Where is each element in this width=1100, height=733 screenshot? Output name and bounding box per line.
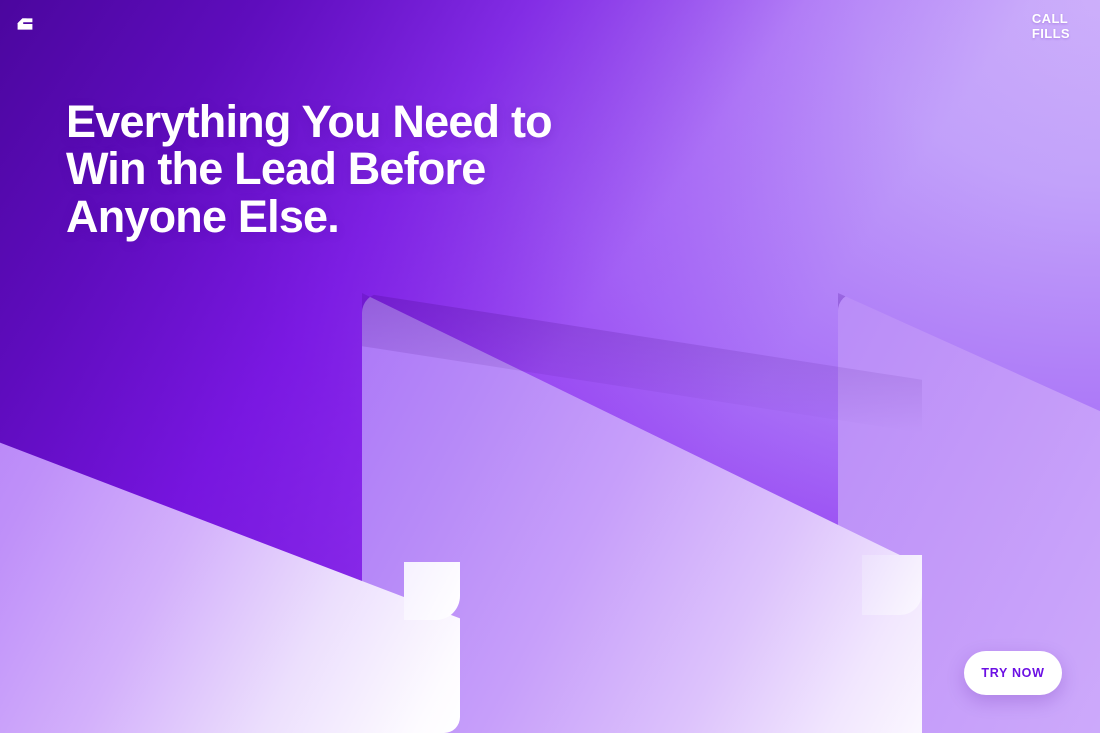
headline-period: . (327, 191, 340, 242)
hero-canvas: CALL FILLS Everything You Need to Win th… (0, 0, 1100, 733)
headline-line-3-text: Anyone Else (66, 191, 327, 242)
headline-line-1: Everything You Need to (66, 98, 686, 145)
page-title: Everything You Need to Win the Lead Befo… (66, 98, 686, 240)
middle-card-corner (862, 555, 922, 615)
brand-line-2: FILLS (1032, 27, 1070, 42)
headline-line-2: Win the Lead Before (66, 145, 686, 192)
brand-wordmark: CALL FILLS (1032, 12, 1070, 42)
foreground-card-corner (404, 562, 460, 620)
try-now-button[interactable]: TRY NOW (964, 651, 1062, 695)
callfills-c-mark-icon[interactable] (14, 13, 36, 35)
brand-line-1: CALL (1032, 12, 1070, 27)
headline-line-3: Anyone Else. (66, 193, 686, 240)
